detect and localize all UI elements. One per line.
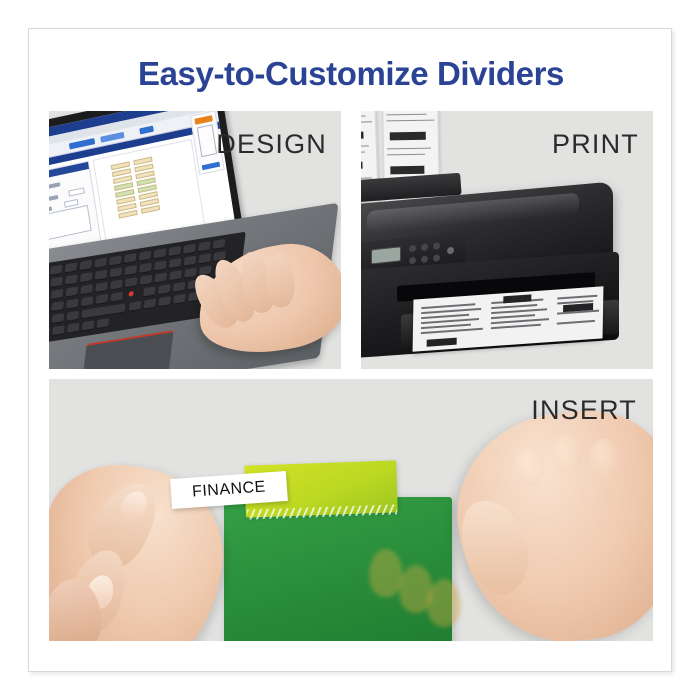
- thumb: [449, 491, 542, 603]
- panel-design[interactable]: DESIGN: [49, 111, 341, 369]
- panel-grid: DESIGN: [49, 111, 653, 641]
- printer-button[interactable]: [409, 245, 416, 253]
- template-cell[interactable]: [118, 210, 137, 219]
- form-label: [49, 195, 58, 205]
- form-input[interactable]: [68, 187, 85, 196]
- printer-power-button[interactable]: [447, 247, 454, 255]
- knuckle: [588, 437, 622, 480]
- product-feature-graphic: Easy-to-Customize Dividers: [0, 0, 700, 700]
- preview-button[interactable]: [202, 162, 220, 171]
- printer-button[interactable]: [421, 243, 428, 251]
- finger-through-sheet: [427, 579, 461, 627]
- knuckle: [512, 445, 546, 488]
- form-label: [49, 182, 60, 193]
- panel-label-print: PRINT: [552, 129, 639, 160]
- panel-label-insert: INSERT: [531, 395, 637, 426]
- page-title: Easy-to-Customize Dividers: [29, 55, 673, 93]
- preview-thumbnail: [197, 124, 217, 157]
- printer-button[interactable]: [433, 254, 440, 262]
- hand-right-holding-divider: [448, 402, 653, 641]
- finger-through-sheet: [369, 549, 403, 597]
- trackpoint-icon[interactable]: [128, 291, 134, 297]
- printer-button[interactable]: [409, 257, 416, 265]
- panel-label-design: DESIGN: [216, 129, 327, 160]
- fingernail: [116, 487, 152, 525]
- laptop-touchpad[interactable]: [82, 330, 174, 369]
- knuckle: [549, 433, 583, 476]
- form-group-box: [49, 205, 92, 243]
- template-cell[interactable]: [141, 205, 160, 214]
- printer-button[interactable]: [421, 255, 428, 263]
- printer-button[interactable]: [433, 242, 440, 250]
- panel-insert[interactable]: FINANCE: [49, 379, 653, 641]
- label-strip-text: FINANCE: [192, 478, 267, 501]
- panel-print[interactable]: PRINT: [361, 111, 653, 369]
- printer-lcd-display: [371, 246, 401, 264]
- preview-highlight: [194, 115, 213, 125]
- framed-card: Easy-to-Customize Dividers: [28, 28, 672, 672]
